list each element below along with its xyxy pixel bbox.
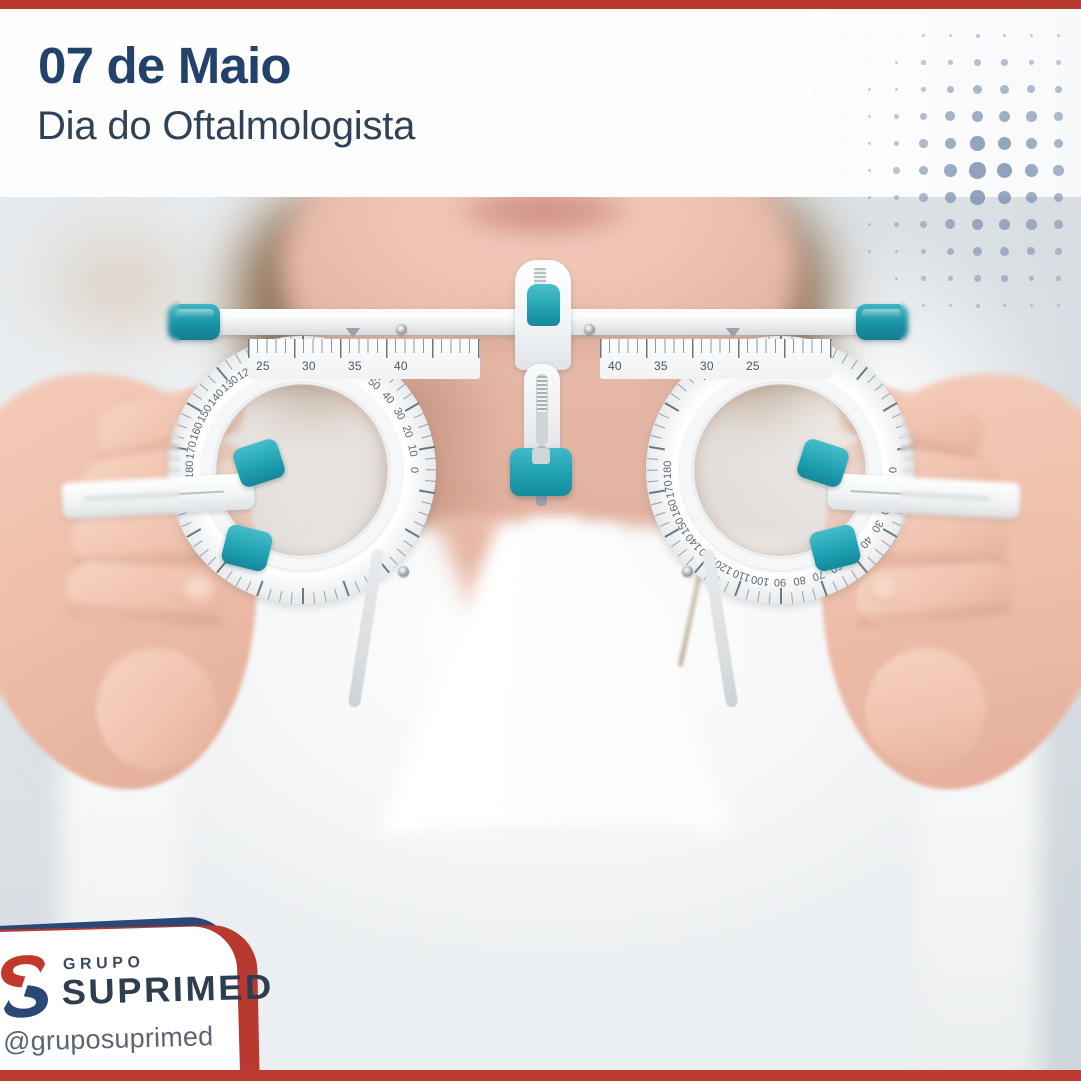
bridge-slot-rack bbox=[537, 376, 547, 412]
screw-bar-left bbox=[396, 324, 407, 335]
pd-scale-number: 35 bbox=[654, 359, 668, 373]
header-panel-extension bbox=[790, 9, 1081, 197]
pd-pointer-right bbox=[726, 328, 740, 338]
pd-ticks-major-left bbox=[248, 339, 480, 358]
screw-bar-right bbox=[584, 324, 595, 335]
bottom-red-rule bbox=[0, 1070, 1081, 1081]
pd-scale-left bbox=[248, 339, 480, 379]
poster-canvas: 0102030405060708090100110120130140150160… bbox=[0, 0, 1081, 1081]
axis-tick bbox=[780, 588, 782, 604]
pd-scale-number: 30 bbox=[302, 359, 316, 373]
screw-ring-left bbox=[398, 566, 409, 577]
pd-scale-number: 25 bbox=[746, 359, 760, 373]
pd-ticks-major-right bbox=[600, 339, 832, 358]
pd-scale-number: 40 bbox=[394, 359, 408, 373]
page-subtitle: Dia do Oftalmologista bbox=[37, 104, 415, 149]
logo-card[interactable]: GRUPO SUPRIMED @gruposuprimed bbox=[0, 913, 282, 1073]
pd-scale-right bbox=[600, 339, 832, 379]
depth-blur-right bbox=[900, 286, 1081, 706]
axis-scale-number: 0 bbox=[408, 461, 420, 479]
page-title: 07 de Maio bbox=[38, 36, 291, 95]
depth-blur-left bbox=[0, 286, 180, 706]
top-red-rule bbox=[0, 0, 1081, 9]
pd-scale-number: 35 bbox=[348, 359, 362, 373]
social-handle: @gruposuprimed bbox=[3, 1021, 214, 1058]
axis-tick bbox=[426, 469, 437, 470]
bridge-adjust-knob bbox=[527, 284, 560, 326]
pd-pointer-left bbox=[346, 328, 360, 338]
suprimed-s-mark-icon bbox=[0, 953, 54, 1021]
pd-scale-number: 30 bbox=[700, 359, 714, 373]
axis-scale-number: 180 bbox=[662, 461, 674, 479]
pd-scale-number: 40 bbox=[608, 359, 622, 373]
axis-scale-number: 90 bbox=[771, 576, 789, 588]
pd-scale-number: 25 bbox=[256, 359, 270, 373]
axis-tick bbox=[647, 469, 658, 470]
screw-ring-right bbox=[682, 566, 693, 577]
brand-line-suprimed: SUPRIMED bbox=[61, 967, 274, 1013]
nose-rest-notch bbox=[532, 448, 550, 464]
axis-tick bbox=[302, 588, 304, 604]
